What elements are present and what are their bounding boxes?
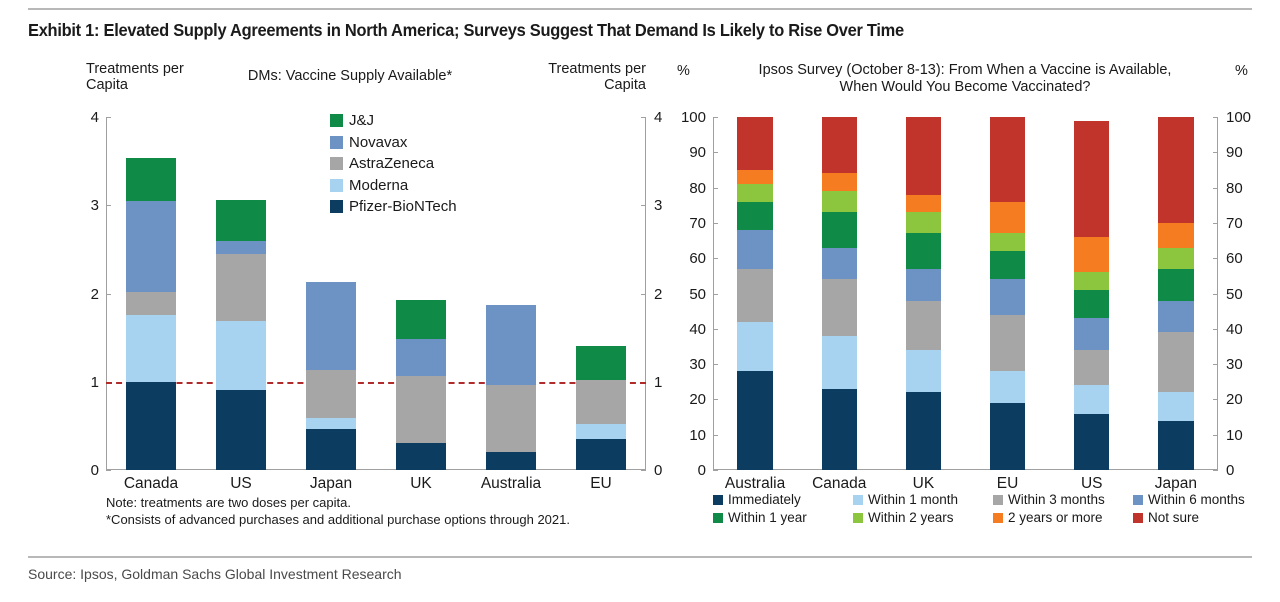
right-chart-panel: % % Ipsos Survey (October 8-13): From Wh… [655, 62, 1280, 542]
y-tick-label: 10 [674, 428, 706, 443]
y-tick-label: 20 [1226, 392, 1258, 407]
bar-segment[interactable] [396, 443, 446, 470]
bar-segment[interactable] [306, 282, 356, 370]
x-category-label: EU [966, 475, 1050, 493]
bar-segment[interactable] [1158, 301, 1193, 333]
bar-segment[interactable] [126, 201, 176, 292]
exhibit-page: Exhibit 1: Elevated Supply Agreements in… [0, 0, 1280, 602]
left-legend: J&JNovavaxAstraZenecaModernaPfizer-BioNT… [330, 110, 457, 218]
bar-segment[interactable] [822, 173, 857, 191]
legend-label: J&J [349, 110, 374, 132]
bar-group[interactable] [906, 117, 941, 470]
bar-segment[interactable] [126, 292, 176, 315]
bar-segment[interactable] [1158, 117, 1193, 223]
legend-item[interactable]: Immediately [713, 492, 853, 507]
bar-segment[interactable] [216, 390, 266, 470]
y-tick-label: 0 [65, 463, 99, 478]
x-category-label: Canada [106, 475, 196, 493]
legend-item[interactable]: Novavax [330, 132, 457, 154]
bar-segment[interactable] [990, 403, 1025, 470]
y-tick-label: 30 [1226, 357, 1258, 372]
x-category-label: UK [376, 475, 466, 493]
bar-group[interactable] [1158, 117, 1193, 470]
bar-segment[interactable] [126, 158, 176, 201]
bar-segment[interactable] [126, 382, 176, 470]
bar-segment[interactable] [1158, 248, 1193, 269]
source-note: Source: Ipsos, Goldman Sachs Global Inve… [28, 566, 402, 582]
bar-segment[interactable] [1158, 421, 1193, 470]
right-legend: ImmediatelyWithin 1 monthWithin 3 months… [713, 492, 1273, 525]
y-tick-label: 2 [65, 287, 99, 302]
bar-segment[interactable] [486, 305, 536, 385]
x-category-label: EU [556, 475, 646, 493]
left-axis-title-right: Treatments per Capita [520, 62, 646, 93]
right-chart-title: Ipsos Survey (October 8-13): From When a… [745, 62, 1185, 96]
axis-tick [1213, 470, 1218, 471]
y-tick-label: 3 [65, 198, 99, 213]
bar-segment[interactable] [306, 418, 356, 429]
y-tick-label: 30 [674, 357, 706, 372]
bar-segment[interactable] [1074, 414, 1109, 470]
legend-swatch-icon [330, 179, 343, 192]
bar-segment[interactable] [822, 212, 857, 247]
bar-segment[interactable] [990, 315, 1025, 371]
bar-segment[interactable] [216, 241, 266, 253]
y-tick-label: 50 [1226, 287, 1258, 302]
x-category-label: US [196, 475, 286, 493]
legend-label: AstraZeneca [349, 153, 434, 175]
note-line-1: Note: treatments are two doses per capit… [106, 494, 570, 511]
bar-segment[interactable] [906, 301, 941, 350]
legend-label: Pfizer-BioNTech [349, 196, 457, 218]
legend-item[interactable]: Within 1 year [713, 510, 853, 525]
x-category-label: Canada [797, 475, 881, 493]
legend-item[interactable]: 2 years or more [993, 510, 1133, 525]
bar-segment[interactable] [822, 191, 857, 212]
legend-item[interactable]: Within 6 months [1133, 492, 1273, 507]
y-tick-label: 50 [674, 287, 706, 302]
bar-segment[interactable] [576, 439, 626, 470]
bar-group[interactable] [216, 117, 266, 470]
bar-segment[interactable] [990, 371, 1025, 403]
legend-label: Within 6 months [1148, 492, 1245, 507]
bar-segment[interactable] [1074, 121, 1109, 237]
x-category-label: Australia [466, 475, 556, 493]
bar-segment[interactable] [216, 321, 266, 390]
bar-segment[interactable] [737, 117, 772, 170]
legend-swatch-icon [853, 513, 863, 523]
legend-swatch-icon [713, 513, 723, 523]
legend-label: Within 3 months [1008, 492, 1105, 507]
bar-group[interactable] [486, 117, 536, 470]
legend-swatch-icon [330, 114, 343, 127]
y-tick-label: 70 [1226, 216, 1258, 231]
y-tick-label: 80 [1226, 181, 1258, 196]
bar-segment[interactable] [1074, 385, 1109, 413]
y-tick-label: 40 [1226, 322, 1258, 337]
y-tick-label: 40 [674, 322, 706, 337]
y-tick-label: 0 [674, 463, 706, 478]
y-tick-label: 0 [1226, 463, 1258, 478]
top-divider [28, 8, 1252, 10]
bar-segment[interactable] [1074, 318, 1109, 350]
bar-segment[interactable] [216, 254, 266, 321]
legend-label: Moderna [349, 175, 408, 197]
y-tick-label: 4 [65, 110, 99, 125]
legend-item[interactable]: Moderna [330, 175, 457, 197]
exhibit-title: Exhibit 1: Elevated Supply Agreements in… [28, 20, 1184, 41]
bar-segment[interactable] [1158, 269, 1193, 301]
bar-segment[interactable] [737, 202, 772, 230]
legend-item[interactable]: Within 1 month [853, 492, 993, 507]
bar-group[interactable] [126, 117, 176, 470]
y-tick-label: 90 [674, 145, 706, 160]
bar-segment[interactable] [822, 117, 857, 173]
bar-segment[interactable] [990, 233, 1025, 251]
legend-label: Not sure [1148, 510, 1199, 525]
bar-segment[interactable] [576, 346, 626, 380]
legend-swatch-icon [993, 495, 1003, 505]
bar-segment[interactable] [216, 200, 266, 241]
left-chart-panel: Treatments per Capita Treatments per Cap… [20, 62, 660, 542]
legend-label: Immediately [728, 492, 801, 507]
bar-segment[interactable] [906, 269, 941, 301]
bar-segment[interactable] [1074, 272, 1109, 290]
bar-segment[interactable] [576, 424, 626, 439]
legend-swatch-icon [330, 200, 343, 213]
legend-label: Within 1 month [868, 492, 958, 507]
bar-segment[interactable] [822, 248, 857, 280]
bar-segment[interactable] [906, 195, 941, 213]
legend-label: Within 2 years [868, 510, 954, 525]
axis-tick [641, 470, 646, 471]
axis-tick [713, 470, 718, 471]
bar-segment[interactable] [126, 315, 176, 382]
x-category-label: UK [881, 475, 965, 493]
y-tick-label: 100 [674, 110, 706, 125]
bar-segment[interactable] [906, 392, 941, 470]
bar-segment[interactable] [1074, 237, 1109, 272]
bar-segment[interactable] [990, 117, 1025, 202]
bar-segment[interactable] [906, 212, 941, 233]
right-axis-unit-left: % [677, 64, 690, 80]
legend-item[interactable]: J&J [330, 110, 457, 132]
bar-segment[interactable] [576, 380, 626, 424]
bar-segment[interactable] [822, 279, 857, 335]
legend-swatch-icon [853, 495, 863, 505]
x-category-label: Japan [1134, 475, 1218, 493]
bar-segment[interactable] [822, 389, 857, 470]
legend-label: Novavax [349, 132, 407, 154]
y-tick-label: 60 [674, 251, 706, 266]
bar-segment[interactable] [1158, 332, 1193, 392]
x-category-label: US [1050, 475, 1134, 493]
bar-segment[interactable] [396, 300, 446, 339]
legend-swatch-icon [993, 513, 1003, 523]
bar-segment[interactable] [990, 251, 1025, 279]
bar-segment[interactable] [906, 233, 941, 268]
y-tick-label: 70 [674, 216, 706, 231]
bar-segment[interactable] [1158, 223, 1193, 248]
y-tick-label: 80 [674, 181, 706, 196]
bar-segment[interactable] [990, 279, 1025, 314]
bar-group[interactable] [576, 117, 626, 470]
y-tick-label: 100 [1226, 110, 1258, 125]
y-tick-label: 60 [1226, 251, 1258, 266]
bar-segment[interactable] [906, 117, 941, 195]
bar-segment[interactable] [737, 184, 772, 202]
bar-segment[interactable] [1074, 350, 1109, 385]
bar-segment[interactable] [306, 370, 356, 418]
bar-segment[interactable] [486, 452, 536, 470]
legend-swatch-icon [1133, 513, 1143, 523]
bar-segment[interactable] [906, 350, 941, 392]
legend-item[interactable]: Within 3 months [993, 492, 1133, 507]
bar-group[interactable] [1074, 117, 1109, 470]
note-line-2: *Consists of advanced purchases and addi… [106, 511, 570, 528]
legend-item[interactable]: AstraZeneca [330, 153, 457, 175]
bar-segment[interactable] [1158, 392, 1193, 420]
bar-segment[interactable] [396, 376, 446, 442]
bottom-divider [28, 556, 1252, 558]
bar-segment[interactable] [737, 170, 772, 184]
bar-segment[interactable] [396, 339, 446, 377]
bar-segment[interactable] [306, 429, 356, 470]
bar-segment[interactable] [822, 336, 857, 389]
y-tick-label: 90 [1226, 145, 1258, 160]
legend-item[interactable]: Pfizer-BioNTech [330, 196, 457, 218]
bar-segment[interactable] [737, 371, 772, 470]
bar-segment[interactable] [737, 269, 772, 322]
bar-segment[interactable] [737, 322, 772, 371]
bar-group[interactable] [737, 117, 772, 470]
bar-segment[interactable] [486, 385, 536, 452]
bar-segment[interactable] [737, 230, 772, 269]
legend-item[interactable]: Within 2 years [853, 510, 993, 525]
x-category-label: Japan [286, 475, 376, 493]
legend-item[interactable]: Not sure [1133, 510, 1273, 525]
bar-segment[interactable] [1074, 290, 1109, 318]
y-tick-label: 20 [674, 392, 706, 407]
y-tick-label: 1 [65, 375, 99, 390]
legend-label: 2 years or more [1008, 510, 1103, 525]
bar-group[interactable] [990, 117, 1025, 470]
x-category-label: Australia [713, 475, 797, 493]
bar-group[interactable] [822, 117, 857, 470]
bar-segment[interactable] [990, 202, 1025, 234]
legend-swatch-icon [1133, 495, 1143, 505]
axis-tick [106, 470, 111, 471]
left-notes: Note: treatments are two doses per capit… [106, 494, 570, 528]
legend-label: Within 1 year [728, 510, 807, 525]
legend-swatch-icon [713, 495, 723, 505]
right-plot-area: 0010102020303040405050606070708080909010… [713, 117, 1218, 470]
legend-swatch-icon [330, 157, 343, 170]
left-chart-title: DMs: Vaccine Supply Available* [220, 68, 480, 85]
left-axis-title-left: Treatments per Capita [86, 62, 216, 93]
legend-swatch-icon [330, 136, 343, 149]
y-tick-label: 10 [1226, 428, 1258, 443]
right-axis-unit-right: % [1235, 64, 1248, 80]
right-bars-layer [713, 117, 1218, 470]
